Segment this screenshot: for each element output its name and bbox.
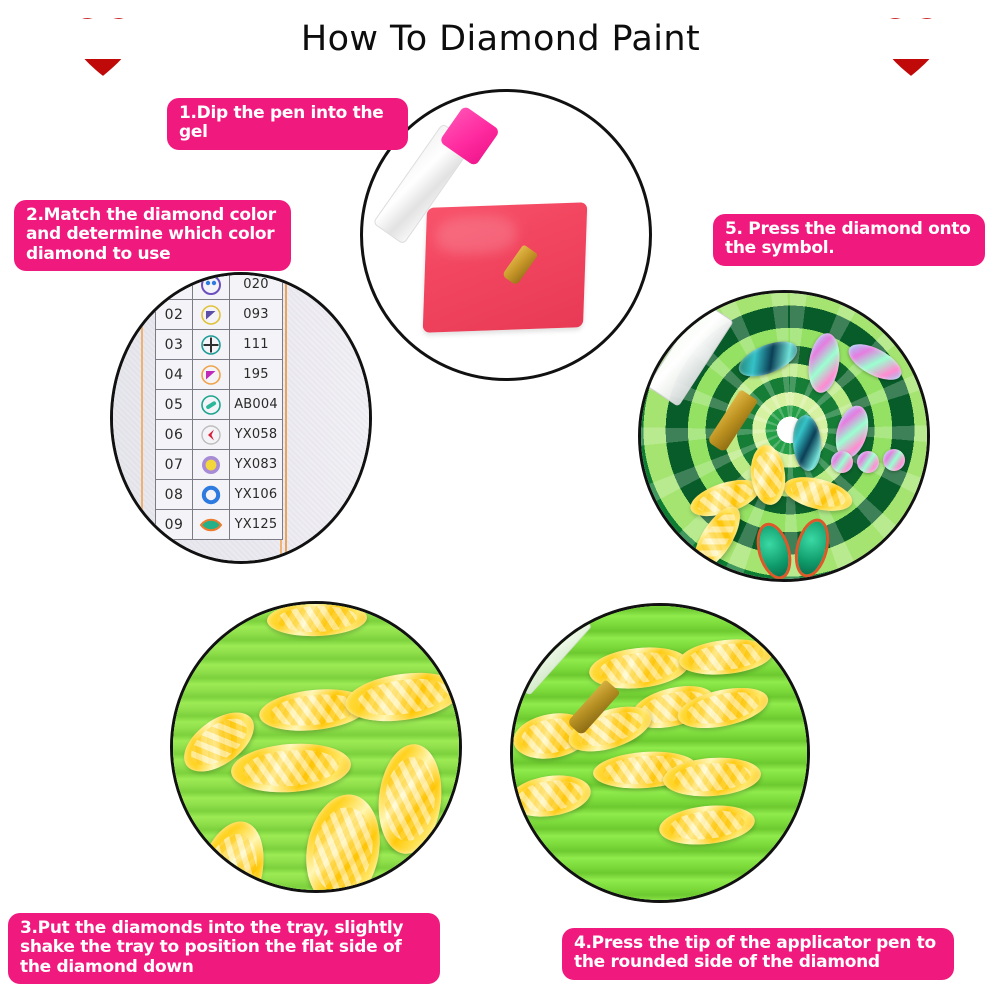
chart-row-number: 04 — [156, 360, 193, 390]
chart-row-symbol — [193, 420, 230, 450]
chart-row-number: 02 — [156, 300, 193, 330]
page-header: How To Diamond Paint — [0, 0, 1001, 86]
chart-row-symbol — [193, 272, 230, 300]
chart-row-number: 03 — [156, 330, 193, 360]
slash-bar-icon — [193, 394, 229, 416]
ring-circle-icon — [193, 484, 229, 506]
chart-row-number: 07 — [156, 450, 193, 480]
chevron-left-icon — [193, 424, 229, 446]
step-5-image — [638, 290, 930, 582]
filled-dot-icon — [193, 454, 229, 476]
applicator-pen-icon — [671, 311, 821, 481]
ring-circle-icon — [193, 274, 229, 296]
rhinestone — [857, 451, 879, 473]
table-row: 09 YX125 — [156, 510, 283, 540]
chart-row-number: 09 — [156, 510, 193, 540]
table-row: 08 YX106 — [156, 480, 283, 510]
triangle-filled-icon — [193, 304, 229, 326]
chart-row-code: 111 — [230, 330, 283, 360]
chart-row-symbol — [193, 360, 230, 390]
chart-row-symbol — [193, 510, 230, 540]
step-4-label: 4.Press the tip of the applicator pen to… — [562, 928, 954, 980]
chart-row-code: YX106 — [230, 480, 283, 510]
step-2-label: 2.Match the diamond color and determine … — [14, 200, 291, 271]
step-3-image — [170, 601, 462, 893]
leaf-marquise-icon — [193, 514, 229, 536]
chart-row-symbol — [193, 330, 230, 360]
applicator-pen-icon — [531, 614, 671, 764]
chart-row-number — [156, 272, 193, 300]
applicator-pen-icon — [393, 122, 523, 267]
chart-row-symbol — [193, 450, 230, 480]
rhinestone — [831, 451, 853, 473]
infographic-canvas: How To Diamond Paint 1.Dip the pen into … — [0, 0, 1001, 1001]
plus-cross-icon — [193, 334, 229, 356]
table-row: 07 YX083 — [156, 450, 283, 480]
chart-row-code: 020 — [230, 272, 283, 300]
chart-row-code: YX083 — [230, 450, 283, 480]
pen-metal-tip — [707, 389, 758, 452]
page-title: How To Diamond Paint — [0, 19, 1001, 59]
step-2-image: 020 02 093 03 — [110, 272, 372, 564]
chart-row-symbol — [193, 390, 230, 420]
table-row: 06 YX058 — [156, 420, 283, 450]
chart-row-code: AB004 — [230, 390, 283, 420]
chart-row-number: 08 — [156, 480, 193, 510]
chart-row-code: 195 — [230, 360, 283, 390]
page-title-text: How To Diamond Paint — [289, 19, 712, 59]
chart-margin-line — [285, 275, 287, 561]
table-row: 03 111 — [156, 330, 283, 360]
chart-margin-line — [141, 275, 143, 561]
chart-row-number: 05 — [156, 390, 193, 420]
table-row: 05 AB004 — [156, 390, 283, 420]
chart-row-code: YX125 — [230, 510, 283, 540]
rhinestone — [883, 449, 905, 471]
table-row: 04 195 — [156, 360, 283, 390]
triangle-filled-icon — [193, 364, 229, 386]
chart-row-symbol — [193, 300, 230, 330]
step-3-label: 3.Put the diamonds into the tray, slight… — [8, 913, 440, 984]
table-row: 02 093 — [156, 300, 283, 330]
step-5-label: 5. Press the diamond onto the symbol. — [713, 214, 985, 266]
step-4-image — [510, 603, 810, 903]
chart-row-number: 06 — [156, 420, 193, 450]
chart-row-symbol — [193, 480, 230, 510]
step-1-label: 1.Dip the pen into the gel — [167, 98, 408, 150]
chart-row-code: 093 — [230, 300, 283, 330]
color-chart-table: 020 02 093 03 — [155, 272, 283, 540]
table-row: 020 — [156, 272, 283, 300]
chart-row-code: YX058 — [230, 420, 283, 450]
pen-metal-tip — [567, 679, 621, 735]
